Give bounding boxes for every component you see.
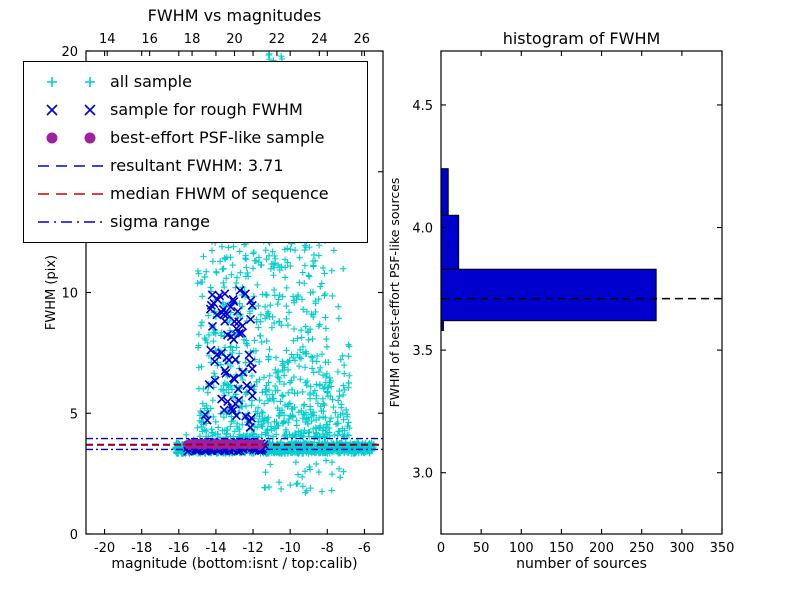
data-point-plus [309,365,315,371]
data-point-plus [340,266,346,272]
data-point-plus [220,280,226,286]
right-panel-title: histogram of FWHM [503,29,661,48]
data-point-plus [323,336,329,342]
data-point-plus [243,264,249,270]
data-point-plus [263,338,269,344]
histogram-bar [441,215,459,269]
data-point-plus [230,243,236,249]
x-tick-label: 350 [710,541,735,556]
x-tick-label: 300 [669,541,694,556]
data-point-plus [237,248,243,254]
data-point-cross [247,315,255,323]
legend-marker-dashdot-line-icon [32,210,110,234]
data-point-plus [291,326,297,332]
data-point-plus [292,247,298,253]
data-point-plus [280,294,286,300]
x-tick-label: 150 [549,541,574,556]
y-tick-label: 4.5 [412,99,433,114]
data-point-plus [266,52,272,58]
data-point-plus [194,425,200,431]
data-point-plus [210,338,216,344]
data-point-plus [275,296,281,302]
data-point-plus [194,280,200,286]
x-tick-label: 250 [629,541,654,556]
data-point-plus [335,397,341,403]
y-tick-label: 5 [70,407,78,422]
data-point-plus [320,385,326,391]
data-point-plus [308,384,314,390]
data-point-plus [302,364,308,370]
data-point-plus [266,346,272,352]
data-point-plus [296,363,302,369]
data-point-plus [320,265,326,271]
figure-canvas: -20-18-16-14-12-10-8-6141618202224260510… [0,0,800,600]
data-point-plus [283,316,289,322]
data-point-plus [287,482,293,488]
data-point-plus [301,280,307,286]
legend-item-label: median FHWM of sequence [110,186,329,202]
data-point-plus [266,484,272,490]
data-point-plus [286,309,292,315]
x-tick-top-label: 18 [184,32,201,47]
right-panel-ylabel: FWHM of best-effort PSF-like sources [387,178,402,408]
data-point-plus [213,269,219,275]
data-point-plus [294,480,300,486]
data-point-plus [228,271,234,277]
data-point-plus [285,322,291,328]
data-point-plus [250,265,256,271]
data-point-plus [296,279,302,285]
data-point-plus [219,243,225,249]
data-point-plus [183,432,189,438]
x-tick-label: -18 [131,541,152,556]
data-point-plus [329,267,335,273]
x-tick-top-label: 16 [141,32,158,47]
data-point-plus [227,423,233,429]
data-point-plus [267,461,273,467]
data-point-plus [322,291,328,297]
y-tick-label: 4.0 [412,222,433,237]
data-point-plus [336,466,342,472]
x-tick-top-label: 20 [226,32,243,47]
data-point-plus [300,483,306,489]
data-point-plus [299,389,305,395]
data-point-plus [266,373,272,379]
data-point-plus [305,272,311,278]
y-tick-label: 0 [70,528,78,543]
data-point-plus [306,273,312,279]
data-point-plus [298,327,304,333]
x-tick-label: -16 [168,541,189,556]
histogram-bar [441,269,656,320]
data-point-plus [314,358,320,364]
x-tick-top-label: 24 [311,32,328,47]
data-point-plus [255,324,261,330]
data-point-plus [329,471,335,477]
data-point-plus [251,337,257,343]
data-point-plus [237,269,243,275]
data-point-plus [285,390,291,396]
data-point-plus [311,252,317,258]
data-point-plus [322,359,328,365]
legend-item-label: best-effort PSF-like sample [110,130,324,146]
data-point-plus [293,481,299,487]
data-point-plus [281,419,287,425]
x-tick-label: -20 [94,541,115,556]
data-point-plus [317,365,323,371]
data-point-plus [307,395,313,401]
data-point-plus [265,414,271,420]
x-tick-label: 50 [473,541,490,556]
x-tick-label: -8 [321,541,334,556]
data-point-plus [316,242,322,248]
data-point-cross [231,356,239,364]
data-point-plus [275,301,281,307]
legend-item: best-effort PSF-like sample [32,124,359,152]
data-point-plus [302,262,308,268]
data-point-plus [336,388,342,394]
data-point-plus [276,479,282,485]
x-tick-label: -10 [280,541,301,556]
data-point-plus [329,459,335,465]
histogram-bar [441,169,448,216]
data-point-plus [316,369,322,375]
x-tick-top-label: 14 [99,32,116,47]
x-tick-label: 200 [589,541,614,556]
data-point-plus [327,375,333,381]
data-point-plus [229,262,235,268]
data-point-plus [273,354,279,360]
data-point-plus [270,272,276,278]
data-point-plus [346,343,352,349]
right-panel-histogram: 0501001502002503003503.03.54.04.5histogr… [387,29,734,572]
y-tick-label: 20 [61,45,78,60]
y-tick-label: 10 [61,287,78,302]
data-point-plus [331,247,337,253]
legend-marker-dashed-line-icon [32,154,110,178]
data-point-plus [297,254,303,260]
data-point-plus [317,284,323,290]
data-point-plus [272,292,278,298]
data-point-plus [279,392,285,398]
data-point-plus [330,404,336,410]
data-point-plus [311,369,317,375]
data-point-plus [207,284,213,290]
data-point-plus [253,258,259,264]
data-point-plus [261,400,267,406]
data-point-plus [293,417,299,423]
data-point-plus [337,474,343,480]
legend-item: all sample [32,68,359,96]
data-point-plus [262,469,268,475]
data-point-plus [198,322,204,328]
data-point-plus [324,344,330,350]
data-point-plus [324,371,330,377]
data-point-plus [323,325,329,331]
data-point-plus [209,247,215,253]
data-point-plus [234,275,240,281]
data-point-plus [205,312,211,318]
data-point-plus [310,262,316,268]
left-panel-title: FWHM vs magnitudes [148,6,322,25]
data-point-plus [340,392,346,398]
data-point-plus [210,258,216,264]
x-tick-label: 100 [509,541,534,556]
legend-marker-circle-icon [32,126,110,150]
data-point-plus [319,488,325,494]
data-point-plus [233,280,239,286]
data-point-plus [298,355,304,361]
legend-item: resultant FWHM: 3.71 [32,152,359,180]
data-point-plus [248,402,254,408]
legend-item: median FHWM of sequence [32,180,359,208]
data-point-plus [196,331,202,337]
data-point-plus [321,292,327,298]
data-point-plus [220,265,226,271]
data-point-plus [249,373,255,379]
data-point-plus [317,381,323,387]
data-point-plus [300,269,306,275]
x-tick-label: -12 [242,541,263,556]
data-point-plus [328,415,334,421]
data-point-plus [316,252,322,258]
data-point-plus [335,303,341,309]
legend-item-label: sigma range [110,214,210,230]
x-tick-label: -14 [205,541,226,556]
data-point-plus [329,487,335,493]
data-point-plus [322,314,328,320]
data-point-plus [215,424,221,430]
data-point-plus [228,419,234,425]
data-point-plus [256,397,262,403]
legend-item-label: all sample [110,74,192,90]
data-point-cross [248,365,256,373]
legend: all samplesample for rough FWHMbest-effo… [23,61,368,243]
y-tick-label: 3.0 [412,467,433,482]
data-point-plus [283,347,289,353]
legend-item: sample for rough FWHM [32,96,359,124]
data-point-plus [205,389,211,395]
data-point-plus [294,390,300,396]
data-point-plus [199,293,205,299]
left-panel-ylabel: FWHM (pix) [44,255,59,330]
legend-item: sigma range [32,208,359,236]
right-panel-xlabel: number of sources [516,556,647,572]
data-point-plus [203,428,209,434]
data-point-plus [284,285,290,291]
data-point-plus [198,279,204,285]
legend-item-label: resultant FWHM: 3.71 [110,158,284,174]
data-point-plus [313,461,319,467]
data-point-plus [282,274,288,280]
data-point-plus [250,250,256,256]
data-point-plus [287,246,293,252]
data-point-plus [211,370,217,376]
data-point-plus [316,469,322,475]
left-panel-xlabel: magnitude (bottom:isnt / top:calib) [111,556,357,572]
data-point-plus [228,343,234,349]
data-point-plus [267,302,273,308]
data-point-plus [323,457,329,463]
data-point-plus [297,376,303,382]
x-tick-label: -6 [358,541,371,556]
data-point-plus [345,342,351,348]
data-point-plus [244,342,250,348]
x-tick-top-label: 22 [269,32,286,47]
data-point-plus [321,270,327,276]
data-point-plus [200,253,206,259]
data-point-plus [199,319,205,325]
data-point-plus [263,247,269,253]
x-tick-label: 0 [437,541,445,556]
data-point-plus [196,386,202,392]
legend-marker-dashed-line-icon [32,182,110,206]
data-point-plus [341,362,347,368]
data-point-plus [254,282,260,288]
data-point-plus [233,344,239,350]
data-point-plus [293,459,299,465]
data-point-plus [203,268,209,274]
legend-item-label: sample for rough FWHM [110,102,303,118]
data-point-plus [278,486,284,492]
data-point-plus [223,275,229,281]
data-point-plus [345,353,351,359]
data-point-plus [221,284,227,290]
data-point-plus [336,315,342,321]
data-point-plus [264,292,270,298]
data-point-plus [271,287,277,293]
data-point-plus [321,402,327,408]
data-point-plus [259,339,265,345]
data-point-plus [256,254,262,260]
data-point-plus [210,397,216,403]
data-point-plus [305,337,311,343]
data-point-plus [340,468,346,474]
data-point-plus [263,291,269,297]
data-point-plus [276,413,282,419]
legend-marker-cross-icon [32,98,110,122]
data-point-plus [257,333,263,339]
data-point-plus [301,401,307,407]
data-point-plus [309,336,315,342]
right-panel-data [441,169,722,331]
data-point-plus [244,270,250,276]
data-point-plus [243,256,249,262]
data-point-plus [329,293,335,299]
y-tick-label: 3.5 [412,344,433,359]
data-point-plus [298,334,304,340]
x-tick-top-label: 26 [354,32,371,47]
data-point-plus [335,369,341,375]
data-point-plus [225,244,231,250]
data-point-plus [319,280,325,286]
legend-marker-plus-icon [32,70,110,94]
data-point-plus [283,303,289,309]
data-point-plus [258,311,264,317]
